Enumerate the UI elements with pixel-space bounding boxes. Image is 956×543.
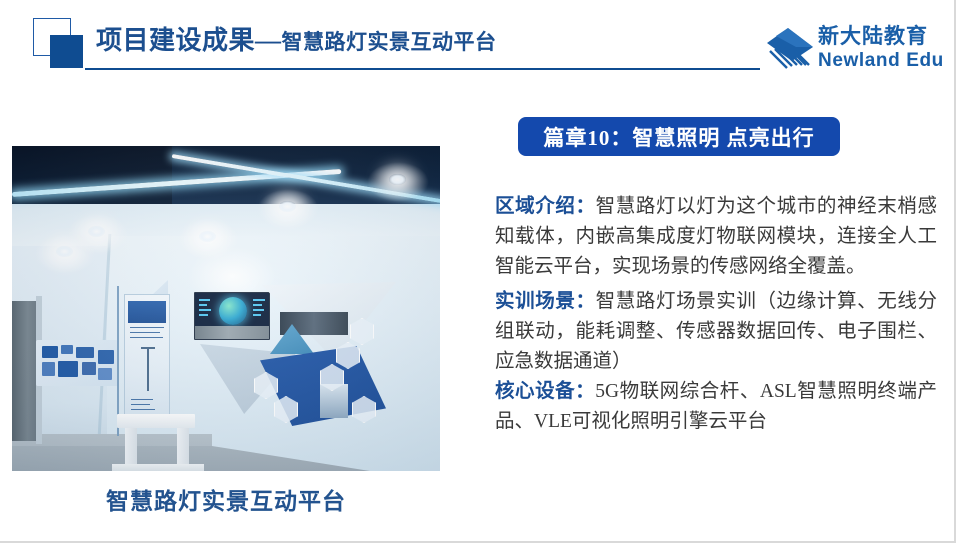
photo-exhibit-board-small bbox=[36, 340, 118, 386]
brand-logo: 新大陆教育 Newland Edu bbox=[762, 24, 934, 80]
header-underline-rule bbox=[85, 68, 760, 70]
photo-downlight-1 bbox=[56, 246, 73, 257]
paragraph-training-scene: 实训场景：智慧路灯场景实训（边缘计算、无线分组联动，能耗调整、传感器数据回传、电… bbox=[495, 287, 937, 377]
chapter-banner-label: 篇章10：智慧照明 点亮出行 bbox=[543, 122, 814, 152]
page-title-dash: — bbox=[255, 26, 282, 55]
photo-rollup-banner bbox=[124, 294, 170, 424]
photo-downlight-2 bbox=[88, 226, 105, 237]
brand-name-cn: 新大陆教育 bbox=[818, 24, 934, 49]
photo-downlight-4 bbox=[279, 201, 296, 212]
photo-downlight-5 bbox=[389, 174, 406, 185]
photo-rollup-text-line-3 bbox=[130, 337, 163, 338]
photo-rollup-text-line-4 bbox=[131, 399, 153, 400]
paragraph-label-core-equipment: 核心设备： bbox=[495, 381, 595, 402]
page-title-main: 项目建设成果 bbox=[96, 26, 255, 55]
page-title: 项目建设成果—智慧路灯实景互动平台 bbox=[96, 20, 497, 57]
paragraph-area-intro: 区域介绍：智慧路灯以灯为这个城市的神经末梢感知载体，内嵌高集成度灯物联网模块，连… bbox=[495, 192, 937, 282]
brand-name-en: Newland Edu bbox=[818, 49, 934, 72]
brand-logo-text: 新大陆教育 Newland Edu bbox=[818, 24, 934, 72]
chapter-banner: 篇章10：智慧照明 点亮出行 bbox=[518, 117, 840, 156]
newland-diamond-icon bbox=[762, 27, 814, 77]
photo-rollup-header-bar bbox=[128, 301, 166, 323]
photo-rollup-text-line-5 bbox=[131, 404, 150, 405]
photo-wall-monitor bbox=[194, 292, 270, 340]
photo-bench-top bbox=[117, 414, 195, 428]
photo-rollup-lamp-pole bbox=[147, 347, 149, 391]
header-decor-square-filled bbox=[50, 35, 83, 68]
photo-rollup-text-line-2 bbox=[130, 332, 160, 333]
page-title-sub: 智慧路灯实景互动平台 bbox=[282, 30, 497, 54]
photo-monitor-globe-graphic bbox=[219, 297, 247, 325]
photo-bench-base bbox=[112, 464, 204, 471]
photo-rollup-text-line-1 bbox=[130, 327, 164, 328]
paragraph-label-area-intro: 区域介绍： bbox=[495, 196, 596, 217]
photo-downlight-3 bbox=[199, 231, 216, 242]
photo-rollup-text-line-6 bbox=[131, 409, 155, 410]
paragraph-label-training-scene: 实训场景： bbox=[495, 291, 596, 312]
paragraph-core-equipment: 核心设备：5G物联网综合杆、ASL智慧照明终端产品、VLE可视化照明引擎云平台 bbox=[495, 377, 937, 437]
photo-caption: 智慧路灯实景互动平台 bbox=[12, 482, 440, 516]
photo-doorway bbox=[12, 301, 38, 441]
slide-canvas: 项目建设成果—智慧路灯实景互动平台 新大陆教育 Newland Edu bbox=[0, 0, 956, 543]
photo-monitor-bottom-strip bbox=[195, 326, 269, 339]
exhibition-hall-photo bbox=[12, 146, 440, 471]
